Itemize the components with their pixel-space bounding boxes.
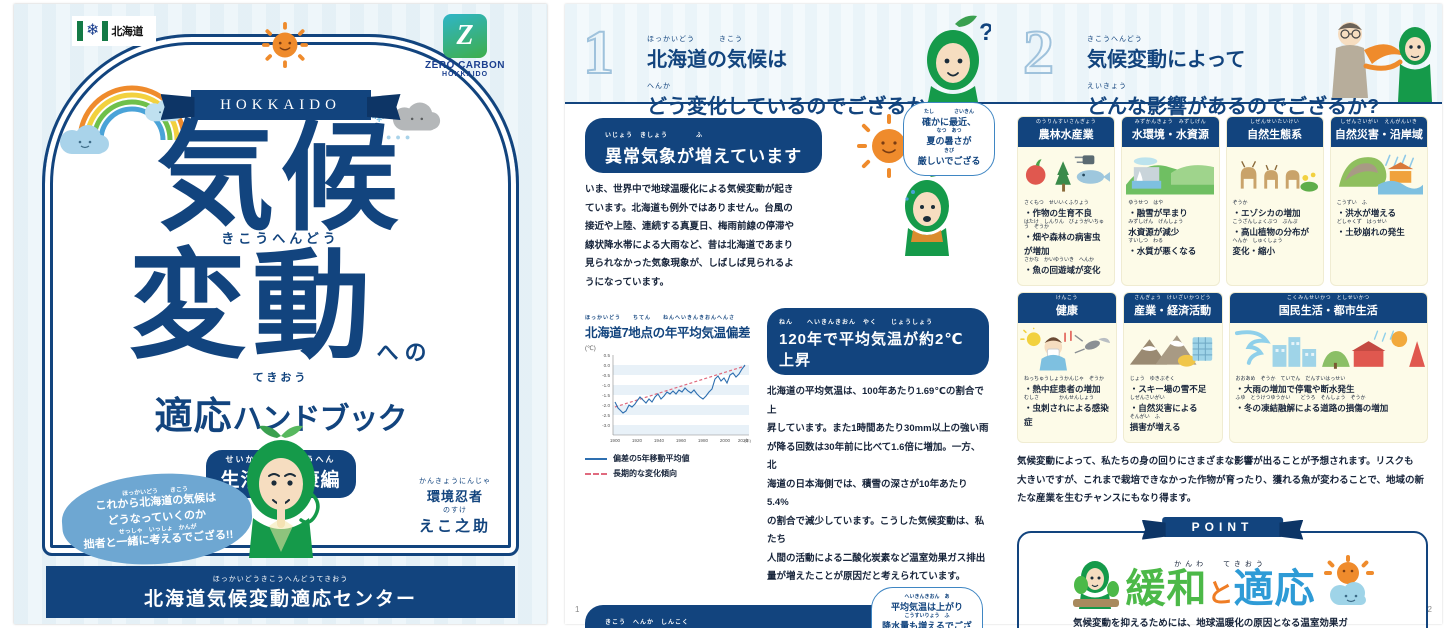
card-item-ruby: こうずい ふ [1337, 201, 1421, 206]
page2-summary: 気候変動によって、私たちの身の回りにさまざまな影響が出ることが予想されます。リス… [1017, 453, 1428, 509]
p1s2-line-4: の割合で減少しています。こうした気候変動は、私たち [767, 513, 989, 550]
card-items: ねっちゅうしょうかんじゃ ぞうか・熱中症患者の増加 むしさ かんせんしょう・虫刺… [1018, 375, 1116, 437]
card-ruby: こくみんせいかつ としせいかつ [1230, 296, 1428, 301]
card-item: こうずい ふ・洪水が増える [1337, 201, 1421, 220]
chart-legend: 偏差の5年移動平均値 長期的な変化傾向 [585, 453, 757, 479]
card-header: さんぎょう けいざいかつどう 産業・経済活動 [1124, 293, 1222, 323]
svg-text:-2.0: -2.0 [602, 403, 610, 408]
card-ruby: けんこう [1018, 296, 1116, 301]
card-item-text: 損害が増える [1130, 422, 1181, 432]
mascot-planting-icon [1069, 555, 1123, 609]
hokkaido-logo-bar-left [77, 21, 83, 41]
card-ruby: さんぎょう けいざいかつどう [1124, 296, 1222, 301]
hokkaido-logo-bar-right [102, 21, 108, 41]
impact-card[interactable]: けんこう 健康 [1017, 292, 1117, 443]
p1b2-line1: 平均気温は上がり [891, 602, 963, 612]
card-item-text: ・冬の凍結融解による道路の損傷の増加 [1236, 403, 1389, 413]
p1s2-line-6: 量が増えたことが原因だと考えられています。 [767, 568, 989, 587]
card-item-text: ・エゾシカの増加 [1233, 208, 1301, 218]
page2-folio: 2 [1428, 605, 1432, 614]
card-header: こくみんせいかつ としせいかつ 国民生活・都市生活 [1230, 293, 1428, 323]
card-item-ruby: ねっちゅうしょうかんじゃ ぞうか [1024, 377, 1110, 382]
card-item: さかな かいゆういき へんか・魚の回遊域が変化 [1024, 258, 1108, 277]
zero-carbon-mark-icon: Z [443, 14, 487, 58]
card-title: 自然生態系 [1247, 129, 1302, 141]
card-item-ruby: そんがい ふ [1130, 415, 1216, 420]
card-items: ぞうか・エゾシカの増加 こうざんしょくぶつ ぶんぷ・高山植物の分布が へんか し… [1227, 199, 1323, 266]
impact-card[interactable]: のうりんすいさんぎょう 農林水産業 [1017, 116, 1115, 286]
mascot-eco-no-suke-icon [233, 422, 329, 562]
hokkaido-logo: ❄ 北海道 [72, 16, 156, 46]
chart-legend-dash: 長期的な変化傾向 [585, 468, 757, 479]
cover-footer-ruby: ほっかいどうきこうへんどうてきおう [213, 574, 349, 584]
water-resource-icon [1122, 147, 1218, 199]
cover-page: ❄ 北海道 Z ZERO CARBON HOKKAIDO [14, 4, 547, 624]
page-2: 2 きこうへんどう 気候変動によって えいきょう どんな影響があるのでござるか? [1005, 4, 1442, 624]
snowflake-icon: ❄ [86, 23, 99, 39]
sun-icon [262, 22, 308, 68]
point-conjunction: と [1207, 578, 1233, 608]
p1s1-line-2: 接近や上陸、連続する真夏日、梅雨前線の停滞や [585, 218, 863, 237]
card-header: しぜんさいがい えんがんいき 自然災害・沿岸域 [1331, 117, 1427, 147]
card-ruby: しぜんさいがい えんがんいき [1331, 120, 1427, 125]
svg-text:1940: 1940 [654, 438, 665, 443]
page1-bubble-1: たし さいきん 確かに最近、 なつ あつ 夏の暑さが きび 厳しいでござる [903, 102, 995, 176]
svg-text:1980: 1980 [698, 438, 709, 443]
card-items: おおあめ ぞうか ていでん だんすいはっせい・大雨の増加で停電や断水発生 ふゆ … [1230, 375, 1428, 423]
mascot-title: 環境忍者 [419, 486, 491, 505]
impact-card[interactable]: しぜんせいたいけい 自然生態系 [1226, 116, 1324, 286]
page1-section2-title-text: 120年で平均気温が約2℃上昇 [779, 331, 964, 369]
card-title: 水環境・水資源 [1132, 129, 1209, 141]
card-item: はたけ しんりん びょうがいちゅう ぞうか・畑や森林の病害虫が増加 [1024, 220, 1108, 258]
svg-text:-0.5: -0.5 [602, 373, 610, 378]
impact-card[interactable]: みずかんきょう みずしげん 水環境・水資源 [1121, 116, 1219, 286]
card-item-text: ・洪水が増える [1337, 208, 1396, 218]
card-item-ruby: おおあめ ぞうか ていでん だんすいはっせい [1236, 377, 1422, 382]
chart-title-wrap: ほっかいどう ちてん ねんへいきんきおんへんさ 北海道7地点の年平均気温偏差 [585, 308, 757, 341]
mascot-ruby1: かんきょうにんじゃ [419, 476, 491, 486]
p1s1-line-3: 線状降水帯による大雨など、昔は北海道であまり [585, 237, 863, 256]
legend-solid-label: 偏差の5年移動平均値 [613, 453, 689, 464]
card-title: 自然災害・沿岸域 [1335, 129, 1423, 141]
cover-title-line1: 気候 [14, 122, 547, 234]
point-heading: かんわ てきおう 緩和と適応 [1037, 555, 1408, 609]
p1s2-line-3: 海道の日本海側では、積雪の深さが10年あたり5.4% [767, 476, 989, 513]
card-items: じょう ゆきぶそく・スキー場の雪不足 しぜんさいがい・自然災害による そんがい … [1124, 375, 1222, 442]
chart-plot-area: (℃) [585, 347, 753, 445]
card-item-text: ・水質が悪くなる [1128, 246, 1196, 256]
card-item-ruby: ふゆ とうけつゆうかい どうろ そんしょう ぞうか [1236, 396, 1422, 401]
card-title: 健康 [1056, 305, 1078, 317]
cover-title-line2-wrap: 変動への [14, 247, 547, 365]
page1-section3-title-ruby: きこう へんか しんこく [605, 617, 689, 626]
card-header: みずかんきょう みずしげん 水環境・水資源 [1122, 117, 1218, 147]
impact-cards-row1: のうりんすいさんぎょう 農林水産業 [1017, 116, 1428, 286]
card-item: おおあめ ぞうか ていでん だんすいはっせい・大雨の増加で停電や断水発生 [1236, 377, 1422, 396]
card-item: ねっちゅうしょうかんじゃ ぞうか・熱中症患者の増加 [1024, 377, 1110, 396]
page1-folio: 1 [575, 605, 579, 614]
ecosystem-icon [1227, 147, 1323, 199]
page1-section1-body: いま、世界中で地球温暖化による気候変動が起き ています。北海道も例外ではありませ… [585, 181, 863, 292]
p1b2-ruby1: へいきんきおん あ [881, 595, 973, 600]
svg-text:2000: 2000 [720, 438, 731, 443]
page-1: 1 ほっかいどう きこう 北海道の気候は へんか どう変化しているのでござるか?… [565, 4, 1005, 624]
point-section: POINT [1017, 531, 1428, 628]
card-ruby: のうりんすいさんぎょう [1018, 120, 1114, 125]
card-ruby: しぜんせいたいけい [1227, 120, 1323, 125]
card-item: そんがい ふ損害が増える [1130, 415, 1216, 434]
svg-text:-1.5: -1.5 [602, 393, 610, 398]
card-item-text: 変化・縮小 [1233, 246, 1276, 256]
p1b1-line3: 厳しいでござる [918, 156, 981, 166]
legend-dash-label: 長期的な変化傾向 [613, 468, 677, 479]
page2-content: のうりんすいさんぎょう 農林水産業 [1005, 104, 1442, 628]
page2-header-ruby1: きこうへんどう [1087, 34, 1143, 44]
card-item: ゆうせつ はや・融雪が早まり [1128, 201, 1212, 220]
card-item-ruby: じょう ゆきぶそく [1130, 377, 1216, 382]
card-header: のうりんすいさんぎょう 農林水産業 [1018, 117, 1114, 147]
mascot-question-icon: ? [919, 14, 991, 102]
p1b1-line2: 夏の暑さが [926, 136, 971, 146]
p1s1-line-5: うになっています。 [585, 274, 863, 293]
p1s2-line-0: 北海道の平均気温は、100年あたり1.69℃の割合で上 [767, 383, 989, 420]
page1-section1-title-text: 異常気象が増えています [605, 147, 802, 166]
card-item-text: 水資源が減少 [1128, 227, 1179, 237]
page1-chart-and-section2: ほっかいどう ちてん ねんへいきんきおんへんさ 北海道7地点の年平均気温偏差 (… [585, 308, 989, 587]
card-item-ruby: へんか しゅくしょう [1233, 239, 1317, 244]
page1-header-ruby1: ほっかいどう きこう [647, 34, 743, 44]
svg-text:1920: 1920 [632, 438, 643, 443]
svg-text:(年): (年) [744, 437, 751, 443]
cover-ribbon-hokkaido: HOKKAIDO [191, 90, 371, 120]
card-item-text: ・大雨の増加で停電や断水発生 [1236, 384, 1355, 394]
p2-summary-line-1: 大きいですが、これまで栽培できなかった作物が育ったり、獲れる魚が変わることで、地… [1017, 472, 1428, 491]
inner-spread: 1 ほっかいどう きこう 北海道の気候は へんか どう変化しているのでござるか?… [565, 4, 1442, 624]
point-line-0: 気候変動を抑えるためには、地球温暖化の原因となる温室効果ガ [1073, 615, 1408, 628]
card-item: しぜんさいがい・自然災害による [1130, 396, 1216, 415]
page2-header-ruby2: えいきょう [1087, 81, 1127, 91]
p2-summary-line-0: 気候変動によって、私たちの身の回りにさまざまな影響が出ることが予想されます。リス… [1017, 453, 1428, 472]
card-item-ruby: どしゃくず はっせい [1337, 220, 1421, 225]
page1-section2-title-ruby: ねん へいきんきおん やく じょうしょう [779, 317, 933, 326]
page1-content: いじょう きしょう ふ 異常気象が増えています いま、世界中で地球温暖化による気… [565, 104, 1005, 628]
cover-bubble-line3: せっしゃ いっしょ かんが 拙者と一緒に考えるでござる!! [83, 522, 234, 554]
card-item-text: ・高山植物の分布が [1233, 227, 1310, 237]
mascot-name: えこ之助 [419, 515, 491, 536]
chart-legend-solid: 偏差の5年移動平均値 [585, 453, 757, 464]
zero-carbon-line1: ZERO CARBON [417, 60, 513, 71]
card-item-text: ・土砂崩れの発生 [1337, 227, 1405, 237]
card-item: へんか しゅくしょう変化・縮小 [1233, 239, 1317, 258]
card-title: 農林水産業 [1039, 129, 1094, 141]
card-items: ゆうせつ はや・融雪が早まり みずしげん げんしょう水資源が減少 すいしつ わる… [1122, 199, 1218, 266]
svg-text:1900: 1900 [610, 438, 621, 443]
card-item-ruby: さくもつ せいいくふりょう [1024, 201, 1108, 206]
professor-and-mascot-icon [1314, 10, 1434, 102]
cover-tekiou: 適応 [154, 396, 232, 438]
page1-section1-title: いじょう きしょう ふ 異常気象が増えています [585, 118, 822, 173]
p1s1-line-4: 見られなかった気象現象が、しばしば見られるよ [585, 255, 863, 274]
card-item-text: ・融雪が早まり [1128, 208, 1188, 218]
point-ribbon-label: POINT [1162, 517, 1284, 537]
page1-header: 1 ほっかいどう きこう 北海道の気候は へんか どう変化しているのでござるか?… [565, 4, 1005, 104]
card-item: こうざんしょくぶつ ぶんぷ・高山植物の分布が [1233, 220, 1317, 239]
page1-chart: ほっかいどう ちてん ねんへいきんきおんへんさ 北海道7地点の年平均気温偏差 (… [585, 308, 757, 587]
point-box: かんわ てきおう 緩和と適応 [1017, 531, 1428, 628]
industry-icon [1124, 323, 1222, 375]
legend-solid-swatch [585, 458, 607, 460]
impact-cards-row2: けんこう 健康 [1017, 292, 1428, 443]
sun-cloud-icon [1318, 555, 1376, 609]
p1s2-line-2: が降る回数は30年前に比べて1.6倍に増加。一方、北 [767, 439, 989, 476]
mascot-hot-icon [899, 166, 957, 258]
chart-y-unit: (℃) [585, 345, 596, 352]
legend-dash-swatch [585, 473, 607, 475]
card-item-ruby: ぞうか [1233, 201, 1317, 206]
svg-text:1960: 1960 [676, 438, 687, 443]
page1-section-number: 1 [583, 18, 614, 89]
cover-footer-text: 北海道気候変動適応センター [144, 584, 417, 611]
svg-text:-2.5: -2.5 [602, 413, 610, 418]
cover-footer: ほっかいどうきこうへんどうてきおう 北海道気候変動適応センター [46, 566, 515, 618]
card-item: むしさ かんせんしょう・虫刺されによる感染症 [1024, 396, 1110, 429]
p1s2-line-1: 昇しています。また1時間あたり30mm以上の強い雨 [767, 420, 989, 439]
page1-section1-title-ruby: いじょう きしょう ふ [605, 130, 703, 139]
point-body: 気候変動を抑えるためには、地球温暖化の原因となる温室効果ガ ス排出量の削減や、植… [1037, 615, 1408, 628]
page1-header-line1: 北海道の気候は [647, 46, 939, 75]
point-word-left: 緩和 [1125, 567, 1207, 611]
card-item-ruby: みずしげん げんしょう [1128, 220, 1212, 225]
p1s2-line-5: 人間の活動による二酸化炭素など温室効果ガス排出 [767, 550, 989, 569]
impact-card[interactable]: しぜんさいがい えんがんいき 自然災害・沿岸域 [1330, 116, 1428, 286]
city-life-icon [1230, 323, 1428, 375]
card-item-ruby: こうざんしょくぶつ ぶんぷ [1233, 220, 1317, 225]
card-item: ふゆ とうけつゆうかい どうろ そんしょう ぞうか・冬の凍結融解による道路の損傷… [1236, 396, 1422, 415]
card-item-ruby: しぜんさいがい [1130, 396, 1216, 401]
point-word-right: 適応 [1234, 567, 1316, 611]
impact-card[interactable]: さんぎょう けいざいかつどう 産業・経済活動 [1123, 292, 1223, 443]
p1b1-ruby2: なつ あつ [913, 129, 985, 134]
zero-carbon-line2: HOKKAIDO [417, 71, 513, 78]
cover-title-suffix: への [377, 341, 433, 366]
p1b1-ruby1: たし さいきん [913, 110, 985, 115]
card-item-text: ・畑や森林の病害虫が増加 [1024, 232, 1101, 256]
page1-section3-title: きこう へんか しんこく このままだと気候の変化が深刻に [585, 605, 895, 628]
p1b1-ruby3: きび [913, 149, 985, 154]
svg-text:0.5: 0.5 [604, 353, 611, 358]
card-item: じょう ゆきぶそく・スキー場の雪不足 [1130, 377, 1216, 396]
card-item-text: ・自然災害による [1130, 403, 1198, 413]
card-item: みずしげん げんしょう水資源が減少 [1128, 220, 1212, 239]
page1-section2: ねん へいきんきおん やく じょうしょう 120年で平均気温が約2℃上昇 北海道… [767, 308, 989, 587]
cover-title-line2: 変動 [128, 237, 376, 375]
page1-header-ruby2: へんか [647, 81, 671, 91]
card-header: しぜんせいたいけい 自然生態系 [1227, 117, 1323, 147]
card-item: どしゃくず はっせい・土砂崩れの発生 [1337, 220, 1421, 239]
card-item-text: ・スキー場の雪不足 [1130, 384, 1207, 394]
page1-section3: きこう へんか しんこく このままだと気候の変化が深刻に このまま地球温暖化が最… [585, 605, 989, 628]
p2-summary-line-2: たな産業を生むチャンスにもなり得ます。 [1017, 490, 1428, 509]
document-spread: ❄ 北海道 Z ZERO CARBON HOKKAIDO [0, 0, 1446, 628]
card-item-ruby: さかな かいゆういき へんか [1024, 258, 1108, 263]
card-item-text: ・魚の回遊域が変化 [1024, 265, 1101, 275]
page2-header: 2 きこうへんどう 気候変動によって えいきょう どんな影響があるのでござるか? [1005, 4, 1442, 104]
svg-text:-3.0: -3.0 [602, 423, 610, 428]
card-item-text: ・作物の生育不良 [1024, 208, 1092, 218]
chart-svg: 0.50.0 -0.5-1.0 -1.5-2.0 -2.5-3.0 190019… [585, 347, 753, 445]
card-title: 産業・経済活動 [1134, 305, 1211, 317]
card-ruby: みずかんきょう みずしげん [1122, 120, 1218, 125]
page2-section-number: 2 [1023, 18, 1054, 89]
page1-bubble-2: へいきんきおん あ 平均気温は上がり こうすいりょう ふ 降水量も増えるでござる [871, 587, 983, 628]
card-item: さくもつ せいいくふりょう・作物の生育不良 [1024, 201, 1108, 220]
chart-title-text: 北海道7地点の年平均気温偏差 [585, 326, 750, 340]
card-item: すいしつ わる・水質が悪くなる [1128, 239, 1212, 258]
p1s1-line-1: ています。北海道も例外ではありません。台風の [585, 200, 863, 219]
p1b2-ruby2: こうすいりょう ふ [881, 614, 973, 619]
card-item-ruby: ゆうせつ はや [1128, 201, 1212, 206]
impact-card[interactable]: こくみんせいかつ としせいかつ 国民生活・都市生活 [1229, 292, 1429, 443]
card-title: 国民生活・都市生活 [1279, 305, 1378, 317]
zero-carbon-logo: Z ZERO CARBON HOKKAIDO [417, 14, 513, 78]
page1-section2-body: 北海道の平均気温は、100年あたり1.69℃の割合で上 昇しています。また1時間… [767, 383, 989, 587]
svg-text:0.0: 0.0 [604, 363, 611, 368]
card-items: こうずい ふ・洪水が増える どしゃくず はっせい・土砂崩れの発生 [1331, 199, 1427, 247]
svg-text:-1.0: -1.0 [602, 383, 610, 388]
card-header: けんこう 健康 [1018, 293, 1116, 323]
card-item: ぞうか・エゾシカの増加 [1233, 201, 1317, 220]
hokkaido-logo-label: 北海道 [111, 23, 143, 39]
mascot-name-block: かんきょうにんじゃ 環境忍者 のすけ えこ之助 [419, 476, 491, 536]
card-item-ruby: はたけ しんりん びょうがいちゅう ぞうか [1024, 220, 1108, 230]
svg-text:?: ? [979, 19, 991, 46]
p1s1-line-0: いま、世界中で地球温暖化による気候変動が起き [585, 181, 863, 200]
card-item-text: ・熱中症患者の増加 [1024, 384, 1101, 394]
mascot-ruby2: のすけ [419, 505, 491, 515]
p1b2-line2: 降水量も増えるでござる [882, 621, 972, 628]
card-item-text: ・虫刺されによる感染症 [1024, 403, 1109, 427]
card-item-ruby: むしさ かんせんしょう [1024, 396, 1110, 401]
page1-section2-title: ねん へいきんきおん やく じょうしょう 120年で平均気温が約2℃上昇 [767, 308, 989, 375]
card-items: さくもつ せいいくふりょう・作物の生育不良 はたけ しんりん びょうがいちゅう … [1018, 199, 1114, 285]
health-icon [1018, 323, 1116, 375]
card-item-ruby: すいしつ わる [1128, 239, 1212, 244]
chart-title-ruby: ほっかいどう ちてん ねんへいきんきおんへんさ [585, 314, 735, 321]
disaster-icon [1331, 147, 1427, 199]
agriculture-icon [1018, 147, 1114, 199]
p1b1-line1: 確かに最近、 [922, 117, 976, 127]
